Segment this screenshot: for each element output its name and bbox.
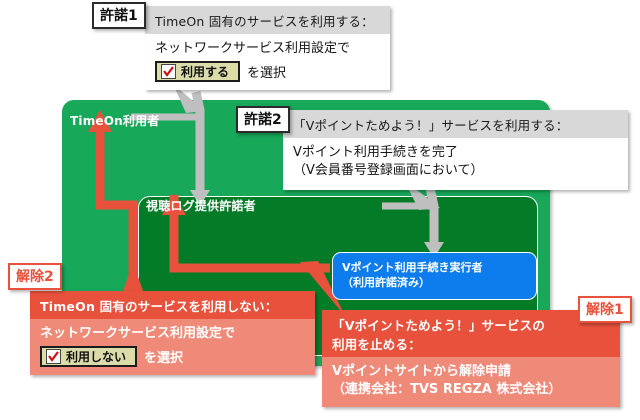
callout-revoke2-line1: ネットワークサービス利用設定で bbox=[40, 325, 305, 343]
callout-grant1-body: ネットワークサービス利用設定で 利用する を選択 bbox=[145, 34, 390, 90]
callout-revoke1-title-line1: 「Vポイントためよう！」サービスの bbox=[332, 315, 610, 334]
checkmark-icon bbox=[46, 349, 61, 364]
badge-revoke2: 解除2 bbox=[8, 263, 62, 290]
callout-revoke2-body: ネットワークサービス利用設定で 利用しない を選択 bbox=[30, 319, 315, 375]
grant2-arrow bbox=[382, 180, 444, 258]
node-vpoint-executor: Vポイント利用手続き実行者 （利用許諾済み） bbox=[332, 252, 537, 300]
grant1-arrow bbox=[131, 84, 210, 206]
callout-revoke2-choice: 利用しない を選択 bbox=[40, 346, 305, 367]
checkbox-use-service[interactable]: 利用する bbox=[155, 61, 240, 82]
callout-grant1-suffix: を選択 bbox=[247, 62, 286, 81]
checkbox-dont-use-service-label: 利用しない bbox=[66, 348, 126, 365]
node-vpoint-executor-line1: Vポイント利用手続き実行者 bbox=[342, 260, 536, 275]
checkbox-dont-use-service[interactable]: 利用しない bbox=[40, 346, 137, 367]
callout-grant2: 「Vポイントためよう！」サービスを利用する： Vポイント利用手続きを完了 （V会… bbox=[283, 110, 628, 190]
callout-grant2-line2: （V会員番号登録画面において） bbox=[293, 162, 618, 180]
callout-revoke2-title: TimeOn 固有のサービスを利用しない： bbox=[30, 291, 315, 319]
callout-revoke2-suffix: を選択 bbox=[144, 347, 183, 366]
node-vpoint-executor-line2: （利用許諾済み） bbox=[342, 275, 536, 290]
revoke2-arrow-outer bbox=[88, 110, 146, 300]
callout-revoke1-line2: （連携会社：TVS REGZA 株式会社） bbox=[332, 381, 610, 399]
checkmark-icon bbox=[161, 64, 176, 79]
diagram-canvas: TimeOn利用者 視聴ログ提供許諾者 Vポイント利用手続き実行者 （利用許諾済… bbox=[0, 0, 640, 420]
callout-grant2-title: 「Vポイントためよう！」サービスを利用する： bbox=[283, 110, 628, 138]
callout-grant1-line1: ネットワークサービス利用設定で bbox=[155, 40, 380, 58]
label-viewlog-consenters: 視聴ログ提供許諾者 bbox=[146, 197, 256, 214]
callout-grant1: TimeOn 固有のサービスを利用する： ネットワークサービス利用設定で 利用す… bbox=[145, 6, 390, 90]
callout-revoke1-title: 「Vポイントためよう！」サービスの 利用を止める： bbox=[322, 310, 620, 357]
badge-grant1: 許諾1 bbox=[92, 2, 146, 29]
callout-grant1-title: TimeOn 固有のサービスを利用する： bbox=[145, 6, 390, 34]
label-timeon-users: TimeOn利用者 bbox=[70, 112, 160, 129]
callout-revoke1-body: Vポイントサイトから解除申請 （連携会社：TVS REGZA 株式会社） bbox=[322, 357, 620, 407]
callout-grant2-line1: Vポイント利用手続きを完了 bbox=[293, 144, 618, 162]
checkbox-use-service-label: 利用する bbox=[181, 63, 229, 80]
callout-revoke1-line1: Vポイントサイトから解除申請 bbox=[332, 363, 610, 381]
callout-grant1-choice: 利用する を選択 bbox=[155, 61, 380, 82]
callout-grant2-body: Vポイント利用手続きを完了 （V会員番号登録画面において） bbox=[283, 138, 628, 190]
callout-revoke1: 「Vポイントためよう！」サービスの 利用を止める： Vポイントサイトから解除申請… bbox=[322, 310, 620, 407]
callout-revoke1-title-line2: 利用を止める： bbox=[332, 334, 610, 353]
badge-grant2: 許諾2 bbox=[236, 106, 290, 133]
badge-revoke1: 解除1 bbox=[578, 296, 632, 323]
callout-revoke2: TimeOn 固有のサービスを利用しない： ネットワークサービス利用設定で 利用… bbox=[30, 291, 315, 375]
